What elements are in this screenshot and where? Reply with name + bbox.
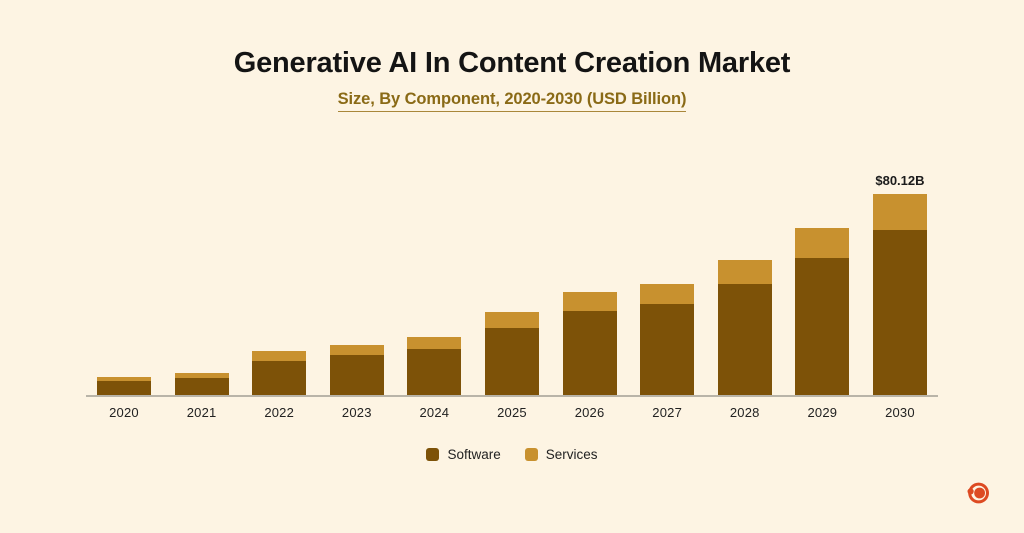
bar-segment-software (407, 349, 461, 395)
chart-page: Generative AI In Content Creation Market… (0, 0, 1024, 533)
x-tick-2028: 2028 (707, 405, 783, 420)
bar-segment-services (407, 337, 461, 349)
bar-stack (640, 284, 694, 395)
chart-subtitle: Size, By Component, 2020-2030 (USD Billi… (338, 90, 687, 112)
bar-segment-software (563, 311, 617, 395)
bar-stack (873, 194, 927, 395)
page-title: Generative AI In Content Creation Market (0, 46, 1024, 80)
plot-area: $80.12B (86, 160, 938, 397)
legend-swatch-software (426, 448, 439, 461)
bar-stack (252, 351, 306, 395)
x-tick-2022: 2022 (241, 405, 317, 420)
bar-stack (175, 373, 229, 395)
x-tick-2027: 2027 (629, 405, 705, 420)
legend-item-services[interactable]: Services (525, 447, 598, 462)
brand-logo-icon (965, 480, 991, 506)
legend-label-software: Software (447, 447, 500, 462)
bar-segment-software (640, 304, 694, 395)
bar-segment-software (718, 284, 772, 395)
bar-group-2022[interactable] (241, 160, 317, 395)
bar-stack (485, 312, 539, 395)
bar-group-2020[interactable] (86, 160, 162, 395)
x-axis-line (86, 395, 938, 397)
bar-stack (718, 260, 772, 395)
bar-group-2023[interactable] (319, 160, 395, 395)
legend-label-services: Services (546, 447, 598, 462)
bar-segment-services (485, 312, 539, 328)
bar-stack (330, 345, 384, 395)
x-tick-2024: 2024 (396, 405, 472, 420)
x-tick-2021: 2021 (164, 405, 240, 420)
bar-segment-software (252, 361, 306, 395)
bar-segment-services (718, 260, 772, 284)
bar-segment-services (330, 345, 384, 355)
x-tick-2020: 2020 (86, 405, 162, 420)
chart-header: Generative AI In Content Creation Market… (0, 46, 1024, 112)
bar-group-2029[interactable] (784, 160, 860, 395)
bar-segment-services (640, 284, 694, 304)
bar-group-2027[interactable] (629, 160, 705, 395)
bar-stack (563, 292, 617, 395)
bar-group-2028[interactable] (707, 160, 783, 395)
bar-segment-software (330, 355, 384, 395)
x-tick-2026: 2026 (552, 405, 628, 420)
bar-series-container: $80.12B (86, 160, 938, 395)
bar-group-2021[interactable] (164, 160, 240, 395)
x-tick-2029: 2029 (784, 405, 860, 420)
bar-segment-software (97, 381, 151, 395)
chart-legend: Software Services (0, 447, 1024, 462)
bar-group-2030[interactable]: $80.12B (862, 160, 938, 395)
bar-segment-services (252, 351, 306, 361)
x-tick-2023: 2023 (319, 405, 395, 420)
legend-item-software[interactable]: Software (426, 447, 500, 462)
bar-segment-services (563, 292, 617, 311)
bar-segment-software (485, 328, 539, 395)
legend-swatch-services (525, 448, 538, 461)
bar-data-label-2030: $80.12B (840, 173, 960, 188)
x-axis-labels: 2020 2021 2022 2023 2024 2025 2026 2027 … (86, 405, 938, 420)
bar-group-2025[interactable] (474, 160, 550, 395)
bar-stack (407, 337, 461, 395)
bar-segment-services (873, 194, 927, 230)
bar-stack (97, 377, 151, 395)
bar-group-2024[interactable] (396, 160, 472, 395)
bar-stack (795, 228, 849, 395)
bar-segment-services (795, 228, 849, 258)
bar-segment-software (175, 378, 229, 395)
bar-segment-software (873, 230, 927, 395)
bar-segment-software (795, 258, 849, 395)
x-tick-2030: 2030 (862, 405, 938, 420)
bar-group-2026[interactable] (552, 160, 628, 395)
x-tick-2025: 2025 (474, 405, 550, 420)
